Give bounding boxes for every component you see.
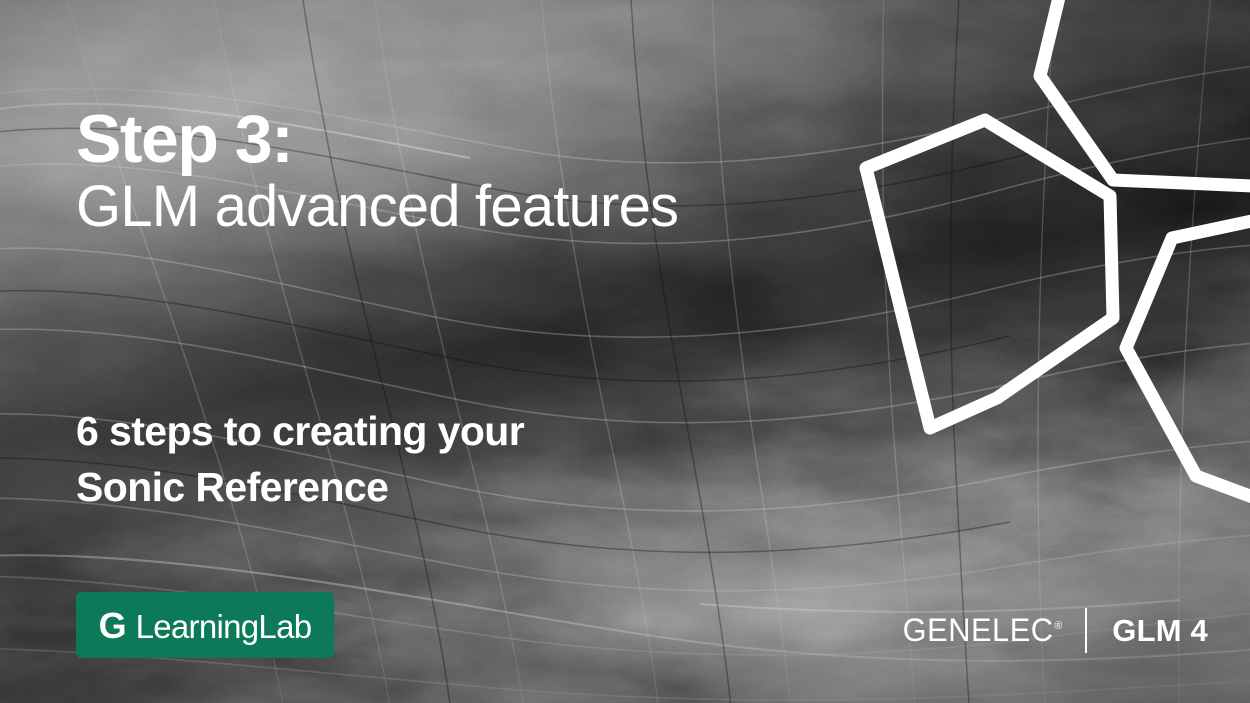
subtitle-line-2: Sonic Reference bbox=[76, 460, 524, 516]
genelec-wordmark: GENELEC® bbox=[903, 614, 1063, 646]
learninglab-wordmark: LearningLab bbox=[136, 610, 312, 643]
glm-product-wordmark: GLM 4 bbox=[1112, 615, 1208, 646]
page-title-primary: Step 3: bbox=[76, 106, 678, 173]
brand-divider bbox=[1085, 608, 1087, 653]
brand-lockup: GENELEC® GLM 4 bbox=[896, 604, 1208, 656]
page-title-secondary: GLM advanced features bbox=[76, 177, 678, 236]
genelec-g-monogram-icon: G bbox=[99, 608, 127, 644]
slide-canvas: Step 3: GLM advanced features 6 steps to… bbox=[0, 0, 1250, 703]
subtitle-line-1: 6 steps to creating your bbox=[76, 404, 524, 460]
learninglab-lockup: G LearningLab bbox=[99, 608, 312, 644]
hexagon-top-right bbox=[1040, 0, 1250, 186]
hexagon-main bbox=[866, 120, 1113, 428]
hexagon-right-edge bbox=[1126, 218, 1250, 502]
subtitle-block: 6 steps to creating your Sonic Reference bbox=[76, 404, 524, 516]
genelec-wordmark-text: GENELEC bbox=[903, 612, 1054, 648]
registered-trademark-icon: ® bbox=[1055, 620, 1063, 632]
headline-block: Step 3: GLM advanced features bbox=[76, 106, 678, 236]
learninglab-logo-badge: G LearningLab bbox=[76, 592, 334, 658]
